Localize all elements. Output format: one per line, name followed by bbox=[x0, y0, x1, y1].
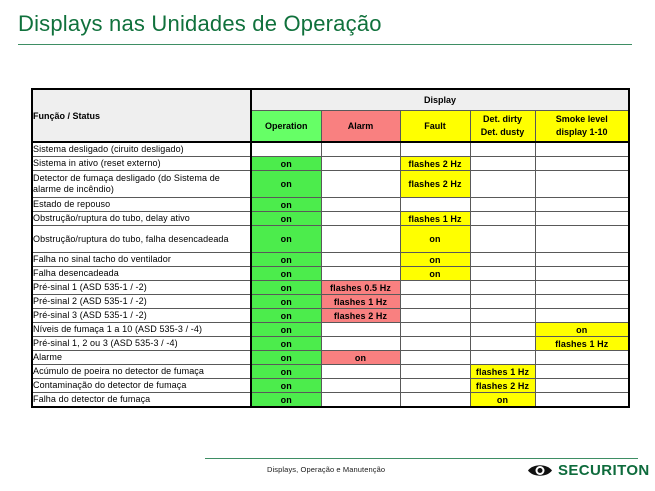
cell-fault bbox=[400, 142, 470, 157]
column-header-smoke-level: Smoke level display 1-10 bbox=[535, 111, 629, 143]
row-label: Pré-sinal 1 (ASD 535-1 / -2) bbox=[32, 281, 251, 295]
display-matrix-table: Função / Status Display Operation Alarm … bbox=[31, 88, 628, 408]
cell-det-dirty bbox=[470, 212, 535, 226]
cell-smoke-level bbox=[535, 226, 629, 253]
cell-det-dirty: on bbox=[470, 393, 535, 408]
cell-alarm: on bbox=[321, 351, 400, 365]
cell-smoke-level bbox=[535, 212, 629, 226]
cell-fault: on bbox=[400, 253, 470, 267]
cell-det-dirty bbox=[470, 337, 535, 351]
cell-alarm: flashes 0.5 Hz bbox=[321, 281, 400, 295]
cell-det-dirty bbox=[470, 281, 535, 295]
cell-fault bbox=[400, 309, 470, 323]
cell-alarm bbox=[321, 379, 400, 393]
row-label: Acúmulo de poeira no detector de fumaça bbox=[32, 365, 251, 379]
cell-fault: flashes 2 Hz bbox=[400, 171, 470, 198]
cell-alarm bbox=[321, 253, 400, 267]
cell-fault: on bbox=[400, 267, 470, 281]
cell-smoke-level bbox=[535, 157, 629, 171]
cell-det-dirty bbox=[470, 295, 535, 309]
cell-alarm bbox=[321, 323, 400, 337]
table-row: Níveis de fumaça 1 a 10 (ASD 535-3 / -4)… bbox=[32, 323, 629, 337]
cell-operation: on bbox=[251, 337, 321, 351]
cell-alarm bbox=[321, 267, 400, 281]
table-row: Obstrução/ruptura do tubo, falha desenca… bbox=[32, 226, 629, 253]
cell-smoke-level bbox=[535, 365, 629, 379]
cell-operation: on bbox=[251, 198, 321, 212]
cell-alarm bbox=[321, 142, 400, 157]
slide-header: Displays nas Unidades de Operação bbox=[18, 10, 638, 45]
column-header-det-dirty-line2: Det. dusty bbox=[481, 127, 525, 137]
column-header-smoke-level-line2: display 1-10 bbox=[556, 127, 608, 137]
cell-fault bbox=[400, 295, 470, 309]
column-header-display-group: Display bbox=[251, 89, 629, 111]
cell-operation: on bbox=[251, 365, 321, 379]
cell-fault bbox=[400, 323, 470, 337]
cell-operation: on bbox=[251, 226, 321, 253]
cell-fault bbox=[400, 281, 470, 295]
table-row: Contaminação do detector de fumaçaonflas… bbox=[32, 379, 629, 393]
cell-alarm bbox=[321, 171, 400, 198]
cell-operation: on bbox=[251, 253, 321, 267]
cell-det-dirty bbox=[470, 171, 535, 198]
table-row: Falha do detector de fumaçaonon bbox=[32, 393, 629, 408]
table-head: Função / Status Display Operation Alarm … bbox=[32, 89, 629, 142]
row-label: Falha desencadeada bbox=[32, 267, 251, 281]
cell-alarm bbox=[321, 393, 400, 408]
cell-operation: on bbox=[251, 309, 321, 323]
table-row: Detector de fumaça desligado (do Sistema… bbox=[32, 171, 629, 198]
cell-smoke-level: flashes 1 Hz bbox=[535, 337, 629, 351]
column-header-smoke-level-line1: Smoke level bbox=[556, 114, 608, 124]
row-label: Detector de fumaça desligado (do Sistema… bbox=[32, 171, 251, 198]
cell-det-dirty bbox=[470, 309, 535, 323]
cell-det-dirty bbox=[470, 157, 535, 171]
cell-smoke-level bbox=[535, 351, 629, 365]
slide-root: Displays nas Unidades de Operação Função… bbox=[0, 0, 655, 491]
table-row: Falha no sinal tacho do ventiladoronon bbox=[32, 253, 629, 267]
securiton-logo: SECURITON bbox=[527, 463, 650, 478]
brand-name: SECURITON bbox=[558, 463, 650, 478]
cell-alarm bbox=[321, 157, 400, 171]
row-label: Obstrução/ruptura do tubo, falha desenca… bbox=[32, 226, 251, 253]
row-label: Falha no sinal tacho do ventilador bbox=[32, 253, 251, 267]
row-label: Níveis de fumaça 1 a 10 (ASD 535-3 / -4) bbox=[32, 323, 251, 337]
column-header-det-dirty: Det. dirty Det. dusty bbox=[470, 111, 535, 143]
cell-alarm bbox=[321, 365, 400, 379]
cell-operation: on bbox=[251, 267, 321, 281]
table-row: Pré-sinal 1, 2 ou 3 (ASD 535-3 / -4)onfl… bbox=[32, 337, 629, 351]
cell-smoke-level bbox=[535, 295, 629, 309]
cell-alarm: flashes 2 Hz bbox=[321, 309, 400, 323]
footer-caption: Displays, Operação e Manutenção bbox=[267, 465, 385, 474]
table-row: Sistema desligado (ciruito desligado) bbox=[32, 142, 629, 157]
cell-det-dirty: flashes 1 Hz bbox=[470, 365, 535, 379]
cell-det-dirty bbox=[470, 267, 535, 281]
cell-operation: on bbox=[251, 281, 321, 295]
cell-smoke-level bbox=[535, 393, 629, 408]
table-row: Obstrução/ruptura do tubo, delay ativoon… bbox=[32, 212, 629, 226]
cell-fault bbox=[400, 337, 470, 351]
table-row: Pré-sinal 2 (ASD 535-1 / -2)onflashes 1 … bbox=[32, 295, 629, 309]
cell-det-dirty bbox=[470, 142, 535, 157]
table-row: Estado de repousoon bbox=[32, 198, 629, 212]
cell-det-dirty bbox=[470, 253, 535, 267]
cell-smoke-level bbox=[535, 198, 629, 212]
title-divider bbox=[18, 44, 632, 45]
column-header-fault: Fault bbox=[400, 111, 470, 143]
cell-fault: flashes 1 Hz bbox=[400, 212, 470, 226]
row-label: Alarme bbox=[32, 351, 251, 365]
row-label: Contaminação do detector de fumaça bbox=[32, 379, 251, 393]
cell-operation bbox=[251, 142, 321, 157]
cell-smoke-level bbox=[535, 281, 629, 295]
eye-icon bbox=[527, 463, 553, 478]
cell-smoke-level bbox=[535, 171, 629, 198]
cell-fault bbox=[400, 198, 470, 212]
cell-operation: on bbox=[251, 212, 321, 226]
table-head-row-group: Função / Status Display bbox=[32, 89, 629, 111]
cell-smoke-level bbox=[535, 267, 629, 281]
row-label: Pré-sinal 2 (ASD 535-1 / -2) bbox=[32, 295, 251, 309]
cell-operation: on bbox=[251, 295, 321, 309]
footer-divider bbox=[205, 458, 638, 459]
cell-alarm: flashes 1 Hz bbox=[321, 295, 400, 309]
column-header-det-dirty-line1: Det. dirty bbox=[483, 114, 522, 124]
cell-smoke-level bbox=[535, 309, 629, 323]
cell-fault bbox=[400, 379, 470, 393]
column-header-function-status: Função / Status bbox=[32, 89, 251, 142]
cell-det-dirty bbox=[470, 351, 535, 365]
column-header-alarm: Alarm bbox=[321, 111, 400, 143]
cell-det-dirty bbox=[470, 226, 535, 253]
cell-operation: on bbox=[251, 393, 321, 408]
cell-det-dirty bbox=[470, 323, 535, 337]
cell-smoke-level bbox=[535, 253, 629, 267]
row-label: Sistema in ativo (reset externo) bbox=[32, 157, 251, 171]
cell-alarm bbox=[321, 337, 400, 351]
table-row: Acúmulo de poeira no detector de fumaçao… bbox=[32, 365, 629, 379]
cell-fault bbox=[400, 351, 470, 365]
row-label: Sistema desligado (ciruito desligado) bbox=[32, 142, 251, 157]
cell-smoke-level: on bbox=[535, 323, 629, 337]
cell-operation: on bbox=[251, 351, 321, 365]
column-header-operation: Operation bbox=[251, 111, 321, 143]
row-label: Estado de repouso bbox=[32, 198, 251, 212]
cell-operation: on bbox=[251, 379, 321, 393]
row-label: Pré-sinal 3 (ASD 535-1 / -2) bbox=[32, 309, 251, 323]
cell-smoke-level bbox=[535, 379, 629, 393]
table-row: Falha desencadeadaonon bbox=[32, 267, 629, 281]
table-row: Sistema in ativo (reset externo)onflashe… bbox=[32, 157, 629, 171]
cell-fault bbox=[400, 393, 470, 408]
cell-alarm bbox=[321, 226, 400, 253]
cell-det-dirty bbox=[470, 198, 535, 212]
cell-fault bbox=[400, 365, 470, 379]
row-label: Obstrução/ruptura do tubo, delay ativo bbox=[32, 212, 251, 226]
cell-smoke-level bbox=[535, 142, 629, 157]
cell-alarm bbox=[321, 198, 400, 212]
table-row: Pré-sinal 1 (ASD 535-1 / -2)onflashes 0.… bbox=[32, 281, 629, 295]
table-row: Pré-sinal 3 (ASD 535-1 / -2)onflashes 2 … bbox=[32, 309, 629, 323]
cell-operation: on bbox=[251, 171, 321, 198]
page-title: Displays nas Unidades de Operação bbox=[18, 10, 638, 38]
table-body: Sistema desligado (ciruito desligado)Sis… bbox=[32, 142, 629, 407]
cell-alarm bbox=[321, 212, 400, 226]
cell-fault: on bbox=[400, 226, 470, 253]
cell-fault: flashes 2 Hz bbox=[400, 157, 470, 171]
cell-operation: on bbox=[251, 157, 321, 171]
table-row: Alarmeonon bbox=[32, 351, 629, 365]
row-label: Pré-sinal 1, 2 ou 3 (ASD 535-3 / -4) bbox=[32, 337, 251, 351]
cell-det-dirty: flashes 2 Hz bbox=[470, 379, 535, 393]
row-label: Falha do detector de fumaça bbox=[32, 393, 251, 408]
cell-operation: on bbox=[251, 323, 321, 337]
